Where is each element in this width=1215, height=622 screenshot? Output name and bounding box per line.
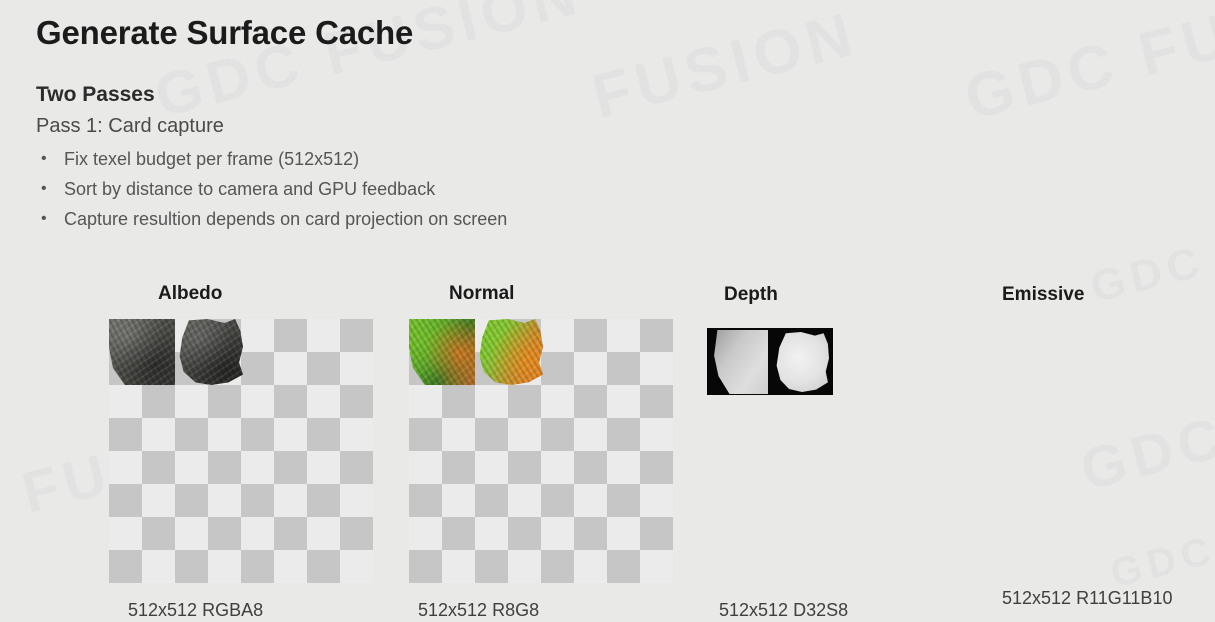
depth-card-shape	[713, 330, 768, 394]
depth-card-tile	[707, 328, 770, 395]
list-item-label: Capture resultion depends on card projec…	[64, 209, 507, 229]
albedo-atlas-panel	[109, 319, 373, 583]
format-label-normal: 512x512 R8G8	[418, 600, 539, 621]
depth-atlas-panel	[707, 328, 833, 395]
watermark-text: GDC	[1106, 528, 1215, 598]
pass-label: Pass 1: Card capture	[36, 115, 224, 138]
list-item: • Capture resultion depends on card proj…	[36, 204, 796, 234]
watermark-text: GDC	[1086, 237, 1210, 314]
format-label-depth: 512x512 D32S8	[719, 600, 848, 621]
albedo-card-tile	[177, 319, 243, 385]
format-label-albedo: 512x512 RGBA8	[128, 600, 263, 621]
list-item-label: Sort by distance to camera and GPU feedb…	[64, 179, 435, 199]
slide-title: Generate Surface Cache	[36, 14, 413, 52]
depth-card-shape	[775, 332, 829, 392]
column-header-emissive: Emissive	[1002, 284, 1084, 306]
column-header-albedo: Albedo	[158, 283, 222, 305]
normal-atlas-panel	[409, 319, 673, 583]
bullet-marker: •	[41, 204, 47, 234]
list-item: • Fix texel budget per frame (512x512)	[36, 144, 796, 174]
watermark-text: FUSION	[585, 0, 864, 133]
section-subhead: Two Passes	[36, 83, 155, 107]
albedo-card-tile	[109, 319, 175, 385]
column-header-normal: Normal	[449, 283, 514, 305]
presentation-slide: GDC FUSION FUSION GDC FUSION FUSION GDC …	[0, 0, 1215, 622]
bullet-list: • Fix texel budget per frame (512x512) •…	[36, 144, 796, 234]
format-label-emissive: 512x512 R11G11B10	[1002, 588, 1172, 609]
column-header-depth: Depth	[724, 284, 778, 306]
list-item-label: Fix texel budget per frame (512x512)	[64, 149, 359, 169]
bullet-marker: •	[41, 144, 47, 174]
depth-card-tile	[770, 328, 833, 395]
normal-card-tile	[477, 319, 543, 385]
list-item: • Sort by distance to camera and GPU fee…	[36, 174, 796, 204]
watermark-text: GDC FUSION	[958, 0, 1215, 134]
normal-card-tile	[409, 319, 475, 385]
bullet-marker: •	[41, 174, 47, 204]
watermark-text: GDC	[1074, 403, 1215, 504]
